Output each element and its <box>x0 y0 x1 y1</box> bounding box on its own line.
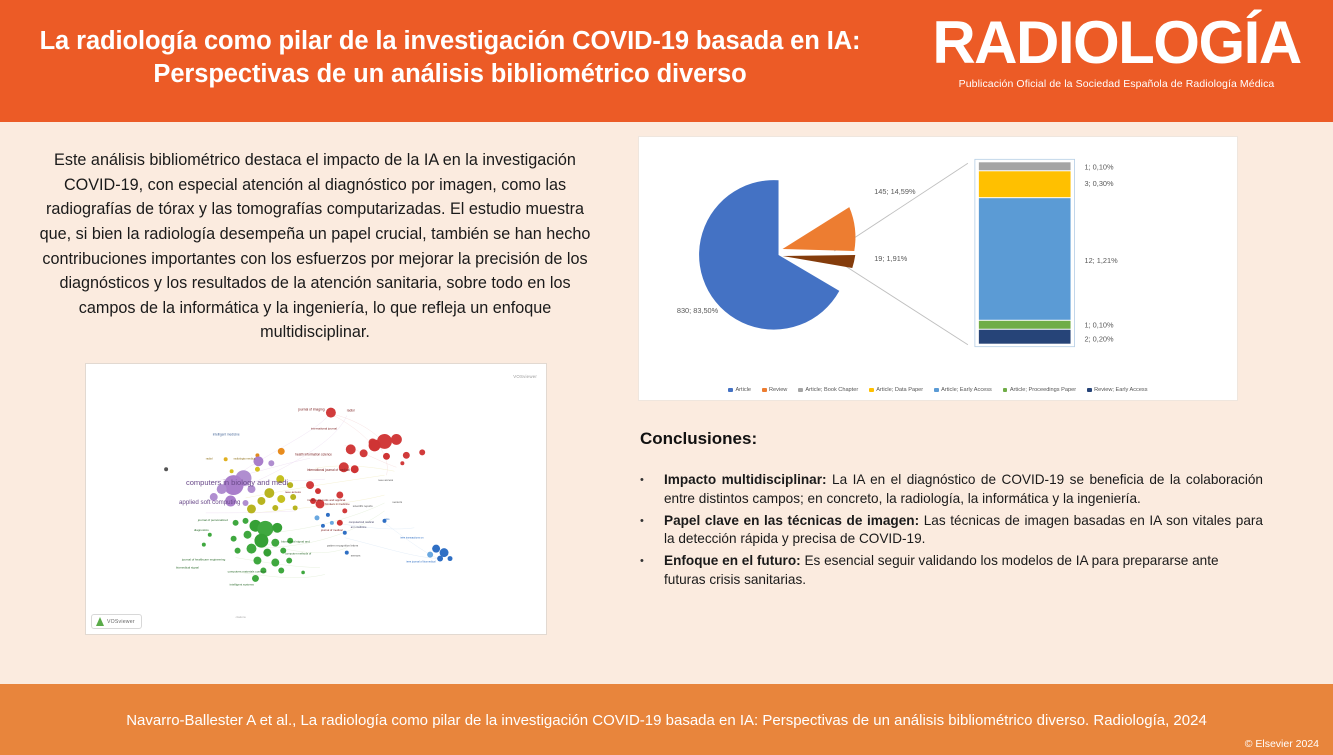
svg-text:ieee access: ieee access <box>379 478 394 482</box>
svg-text:journal of personalized: journal of personalized <box>197 518 228 522</box>
network-map-svg: computers in biology and medi applied so… <box>86 364 546 634</box>
legend-item: Article; Proceedings Paper <box>1003 387 1076 393</box>
network-map-figure: computers in biology and medi applied so… <box>85 363 547 635</box>
journal-logo: RADIOLOGÍA Publicación Oficial de la Soc… <box>900 0 1333 122</box>
svg-text:biomedical signal: biomedical signal <box>176 565 199 569</box>
footer-copyright: © Elsevier 2024 <box>1245 738 1319 750</box>
svg-text:radiologia medica: radiologia medica <box>234 456 256 460</box>
svg-text:intelligent medicine: intelligent medicine <box>213 432 240 436</box>
svg-text:radiol: radiol <box>206 456 213 460</box>
conclusions-title: Conclusiones: <box>640 429 1263 449</box>
svg-text:journal of healthcare engineer: journal of healthcare engineering <box>181 558 226 562</box>
legend-label: Article; Proceedings Paper <box>1010 387 1076 393</box>
header-title-container: La radiología como pilar de la investiga… <box>0 0 900 122</box>
svg-text:computerized medical: computerized medical <box>349 520 375 524</box>
conclusions-list: • Impacto multidisciplinar: La IA en el … <box>640 471 1263 590</box>
legend-item: Article; Book Chapter <box>798 387 858 393</box>
legend-swatch-icon <box>1087 388 1092 393</box>
pie-label-review: 145; 14,59% <box>874 187 916 196</box>
svg-text:ieee access: ieee access <box>285 490 301 494</box>
svg-text:sensors: sensors <box>392 500 402 504</box>
legend-swatch-icon <box>798 388 803 393</box>
bar-of-pie-chart-svg: 830; 83,50% 145; 14,59% 19; 1,91% 1; 0,1… <box>639 137 1237 369</box>
left-column: Este análisis bibliométrico destaca el i… <box>0 122 628 684</box>
bullet-marker-icon: • <box>640 471 664 509</box>
svg-text:computers in biology and medi: computers in biology and medi <box>186 478 288 487</box>
legend-item: Article; Early Access <box>934 387 992 393</box>
bullet-text: Papel clave en las técnicas de imagen: L… <box>664 512 1263 550</box>
bullet-text: Enfoque en el futuro: Es esencial seguir… <box>664 552 1263 590</box>
abstract-paragraph: Este análisis bibliométrico destaca el i… <box>30 148 600 345</box>
svg-text:applied soft computing: applied soft computing <box>179 499 241 506</box>
bar-label-proceedings: 1; 0,10% <box>1085 321 1115 330</box>
bar-label-book-chapter: 1; 0,10% <box>1085 162 1115 171</box>
legend-label: Review; Early Access <box>1094 387 1147 393</box>
legend-item: Review <box>762 387 787 393</box>
svg-text:international journal: international journal <box>311 427 337 431</box>
bar-group <box>975 159 1075 346</box>
svg-text:journal of imaging: journal of imaging <box>297 408 325 412</box>
svg-text:computers materials continua: computers materials continua <box>228 569 267 573</box>
svg-text:scientific reports: scientific reports <box>353 504 374 508</box>
svg-text:biomedical signal and: biomedical signal and <box>281 540 310 544</box>
svg-text:ieee journal of biomedical: ieee journal of biomedical <box>406 560 436 564</box>
conclusions-section: Conclusiones: • Impacto multidisciplinar… <box>638 429 1263 590</box>
svg-text:frontiers in medicine: frontiers in medicine <box>325 502 350 506</box>
bar-label-review-early: 2; 0,20% <box>1085 335 1115 344</box>
svg-text:intelligent systems: intelligent systems <box>230 582 255 586</box>
journal-logo-text: RADIOLOGÍA <box>932 14 1300 73</box>
svg-text:journal of medical: journal of medical <box>320 528 343 532</box>
vosviewer-label: VOSviewer <box>107 619 135 625</box>
svg-text:pattern recognition letters: pattern recognition letters <box>327 544 359 548</box>
publication-type-chart: 830; 83,50% 145; 14,59% 19; 1,91% 1; 0,1… <box>638 136 1238 401</box>
legend-item: Article; Data Paper <box>869 387 923 393</box>
network-map-corner-label: VOSviewer <box>513 374 537 379</box>
legend-label: Article; Book Chapter <box>805 387 858 393</box>
svg-text:computer methods of: computer methods of <box>285 552 311 556</box>
legend-swatch-icon <box>728 388 733 393</box>
legend-swatch-icon <box>869 388 874 393</box>
legend-label: Article <box>735 387 751 393</box>
svg-text:plos: plos <box>384 517 390 521</box>
bar-label-early-access: 12; 1,21% <box>1085 256 1119 265</box>
svg-text:sensors: sensors <box>351 554 361 558</box>
svg-text:radiol: radiol <box>347 409 355 413</box>
page-title: La radiología como pilar de la investiga… <box>14 25 886 91</box>
legend-swatch-icon <box>1003 388 1008 393</box>
svg-text:citations: citations <box>236 615 247 619</box>
list-item: • Impacto multidisciplinar: La IA en el … <box>640 471 1263 509</box>
journal-logo-subtitle: Publicación Oficial de la Sociedad Españ… <box>959 78 1275 90</box>
chart-legend: Article Review Article; Book Chapter Art… <box>639 387 1237 393</box>
legend-item: Article <box>728 387 751 393</box>
legend-swatch-icon <box>762 388 767 393</box>
legend-swatch-icon <box>934 388 939 393</box>
bar-label-data-paper: 3; 0,30% <box>1085 179 1115 188</box>
bullet-marker-icon: • <box>640 552 664 590</box>
right-column: 830; 83,50% 145; 14,59% 19; 1,91% 1; 0,1… <box>628 122 1333 684</box>
page-footer: Navarro-Ballester A et al., La radiologí… <box>0 684 1333 755</box>
vosviewer-badge: VOSviewer <box>91 614 142 629</box>
bullet-text: Impacto multidisciplinar: La IA en el di… <box>664 471 1263 509</box>
list-item: • Papel clave en las técnicas de imagen:… <box>640 512 1263 550</box>
footer-citation: Navarro-Ballester A et al., La radiologí… <box>126 711 1207 731</box>
legend-item: Review; Early Access <box>1087 387 1147 393</box>
main-content: Este análisis bibliométrico destaca el i… <box>0 122 1333 684</box>
legend-label: Review <box>769 387 787 393</box>
bullet-marker-icon: • <box>640 512 664 550</box>
bullet-lead: Papel clave en las técnicas de imagen: <box>664 513 919 528</box>
vosviewer-logo-icon <box>96 617 104 626</box>
svg-text:ai in medicine: ai in medicine <box>351 525 367 529</box>
pie-label-article: 830; 83,50% <box>677 306 719 315</box>
page-header: La radiología como pilar de la investiga… <box>0 0 1333 122</box>
pie-label-grouped: 19; 1,91% <box>874 254 908 263</box>
legend-label: Article; Early Access <box>941 387 992 393</box>
svg-text:international journal of medic: international journal of medical <box>307 468 350 472</box>
list-item: • Enfoque en el futuro: Es esencial segu… <box>640 552 1263 590</box>
svg-text:ieee transactions on: ieee transactions on <box>400 536 424 540</box>
bullet-lead: Impacto multidisciplinar: <box>664 472 827 487</box>
svg-text:diagnostics: diagnostics <box>194 528 209 532</box>
legend-label: Article; Data Paper <box>876 387 923 393</box>
svg-text:health information science: health information science <box>295 452 332 456</box>
bullet-lead: Enfoque en el futuro: <box>664 553 801 568</box>
